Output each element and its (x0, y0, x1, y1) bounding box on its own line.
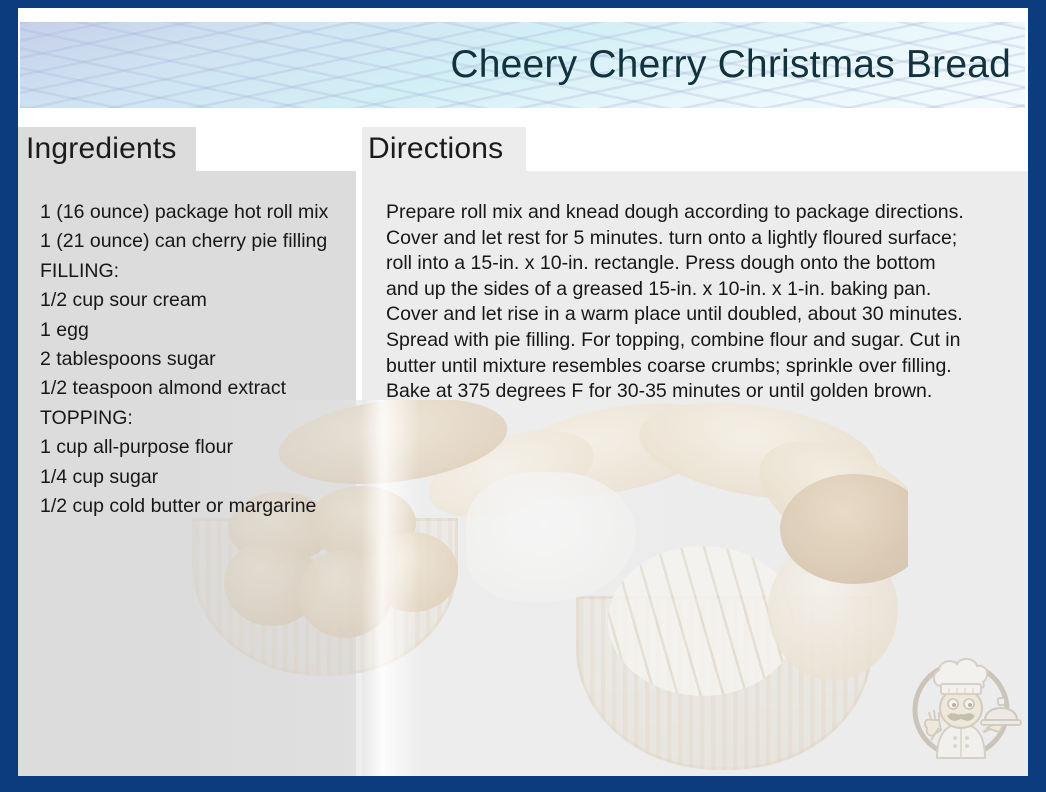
ingredient-section-filling: FILLING: (40, 257, 370, 286)
directions-line: Prepare roll mix and knead dough accordi… (386, 200, 1028, 226)
ingredient-item: 1/2 cup sour cream (40, 286, 370, 315)
recipe-title: Cheery Cherry Christmas Bread (450, 43, 1011, 87)
chef-with-platter-logo (895, 640, 1027, 772)
ingredient-item: 1 (16 ounce) package hot roll mix (40, 198, 370, 227)
directions-line: and up the sides of a greased 15-in. x 1… (386, 277, 1028, 303)
directions-line: Bake at 375 degrees F for 30-35 minutes … (386, 379, 1028, 405)
directions-line: Spread with pie filling. For topping, co… (386, 328, 1028, 354)
recipe-page: Cheery Cherry Christmas Bread (18, 8, 1028, 776)
ingredients-heading: Ingredients (26, 132, 177, 166)
recipe-card: Cheery Cherry Christmas Bread (0, 0, 1046, 792)
ingredients-tab-notch (196, 127, 356, 171)
ingredient-item: 1/4 cup sugar (40, 463, 370, 492)
directions-text: Prepare roll mix and knead dough accordi… (386, 200, 1028, 405)
ingredient-item: 1/2 teaspoon almond extract (40, 374, 370, 403)
directions-line: Cover and let rise in a warm place until… (386, 302, 1028, 328)
ingredient-section-topping: TOPPING: (40, 404, 370, 433)
title-banner: Cheery Cherry Christmas Bread (20, 22, 1025, 108)
ingredient-item: 1/2 cup cold butter or margarine (40, 492, 370, 521)
directions-line: butter until mixture resembles coarse cr… (386, 354, 1028, 380)
directions-line: roll into a 15-in. x 10-in. rectangle. P… (386, 251, 1028, 277)
directions-tab-notch (526, 127, 1028, 171)
ingredient-item: 1 cup all-purpose flour (40, 433, 370, 462)
ingredient-item: 2 tablespoons sugar (40, 345, 370, 374)
ingredient-item: 1 (21 ounce) can cherry pie filling (40, 227, 370, 256)
ingredient-item: 1 egg (40, 316, 370, 345)
directions-heading: Directions (368, 132, 503, 166)
ingredients-list: 1 (16 ounce) package hot roll mix 1 (21 … (40, 198, 370, 521)
directions-line: Cover and let rest for 5 minutes. turn o… (386, 226, 1028, 252)
